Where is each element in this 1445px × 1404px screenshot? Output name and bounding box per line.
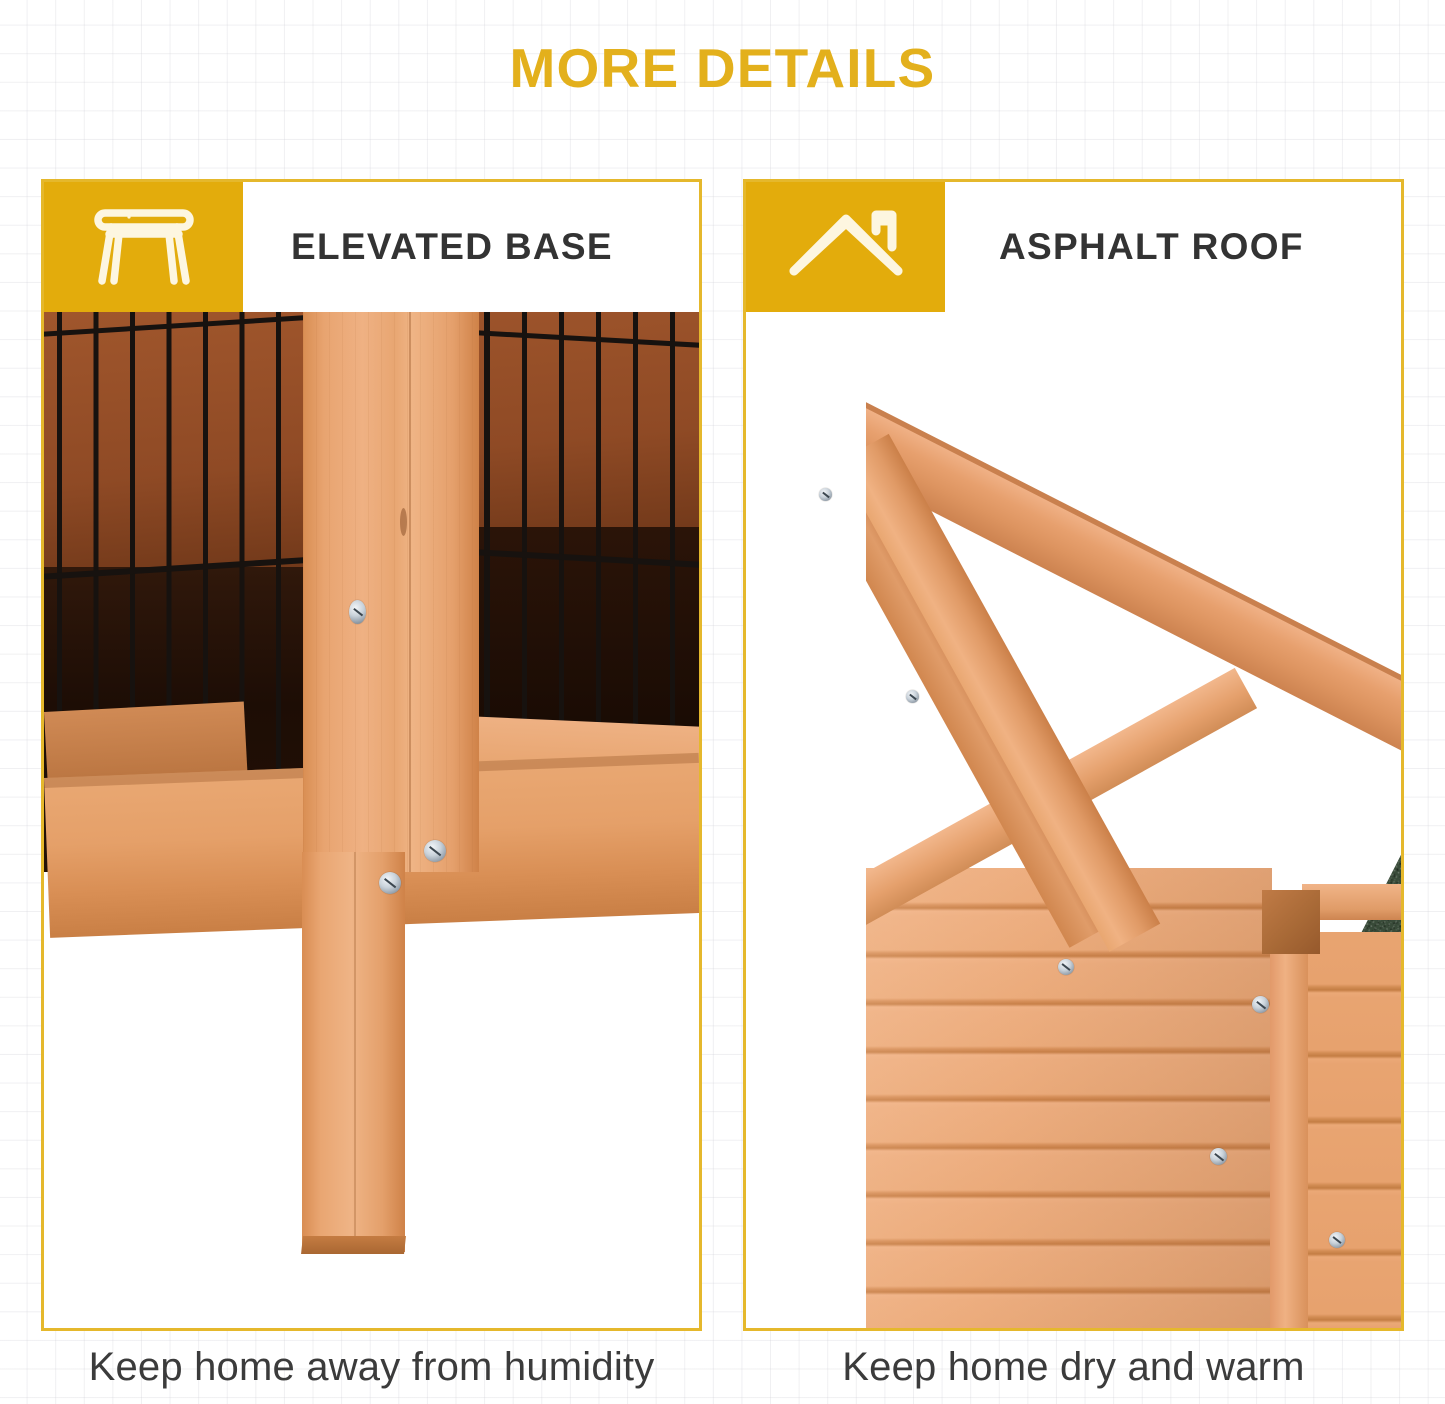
page-title: MORE DETAILS	[0, 36, 1445, 100]
corner-post-right	[1270, 908, 1308, 1328]
hutch-base-scene	[44, 312, 699, 1328]
badge-label-asphalt-roof: ASPHALT ROOF	[945, 182, 1401, 312]
badge-icon-block-asphalt-roof	[746, 182, 945, 312]
caption-elevated-base: Keep home away from humidity	[41, 1344, 702, 1404]
caption-asphalt-roof: Keep home dry and warm	[743, 1344, 1404, 1404]
asphalt-roof-photo	[746, 182, 1401, 1328]
hutch-roof-scene	[746, 312, 1401, 1328]
wire-mesh-panel-right	[476, 312, 699, 762]
badge-icon-block-elevated-base	[44, 182, 243, 312]
corner-joint-block	[1262, 890, 1320, 954]
badge-elevated-base: ELEVATED BASE	[44, 182, 699, 312]
wood-knot	[400, 508, 407, 536]
screw-side-trim	[1252, 996, 1269, 1013]
elevated-leg-seam	[354, 852, 356, 1252]
roof-chimney-icon	[788, 209, 904, 285]
elevated-base-photo	[44, 182, 699, 1328]
badge-asphalt-roof: ASPHALT ROOF	[746, 182, 1401, 312]
details-cards-row: ELEVATED BASE	[41, 179, 1405, 1331]
wood-post-seam	[409, 312, 411, 872]
table-stand-icon	[92, 208, 196, 286]
screw-rail-right	[424, 840, 446, 862]
detail-card-asphalt-roof: ASPHALT ROOF	[743, 179, 1404, 1331]
captions-row: Keep home away from humidity Keep home d…	[41, 1344, 1405, 1404]
screw-rail-left	[379, 872, 401, 894]
screw-fascia	[1058, 959, 1074, 975]
wood-grain-texture	[303, 312, 479, 872]
screw-gable-upper	[819, 488, 832, 501]
screw-gable-lower	[906, 690, 919, 703]
screw-side-lower	[1329, 1232, 1345, 1248]
roof-left-mask	[746, 312, 866, 1328]
elevated-leg-foot	[301, 1236, 406, 1254]
screw-corner-post	[1210, 1148, 1227, 1165]
detail-card-elevated-base: ELEVATED BASE	[41, 179, 702, 1331]
badge-label-elevated-base: ELEVATED BASE	[243, 182, 699, 312]
screw-post-upper	[349, 600, 366, 624]
